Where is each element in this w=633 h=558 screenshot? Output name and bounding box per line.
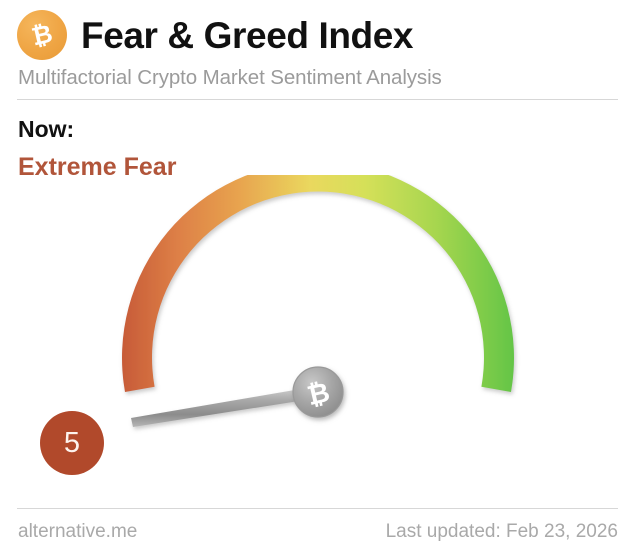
gauge-hub: ₿ (293, 367, 343, 417)
page-title: Fear & Greed Index (81, 17, 413, 54)
score-value: 5 (64, 429, 80, 458)
score-badge: 5 (40, 411, 104, 475)
last-updated-text: Last updated: Feb 23, 2026 (386, 521, 618, 543)
gauge-needle (131, 386, 318, 427)
header: ₿ Fear & Greed Index (17, 10, 413, 60)
svg-text:₿: ₿ (29, 20, 55, 52)
gauge-arc (122, 175, 514, 392)
source-link[interactable]: alternative.me (18, 521, 137, 543)
fear-greed-index-widget: ₿ Fear & Greed Index Multifactorial Cryp… (0, 0, 633, 558)
header-divider (17, 99, 618, 100)
page-subtitle: Multifactorial Crypto Market Sentiment A… (18, 66, 442, 90)
footer-divider (17, 508, 618, 509)
bitcoin-icon: ₿ (17, 10, 67, 60)
now-label: Now: (18, 118, 74, 141)
